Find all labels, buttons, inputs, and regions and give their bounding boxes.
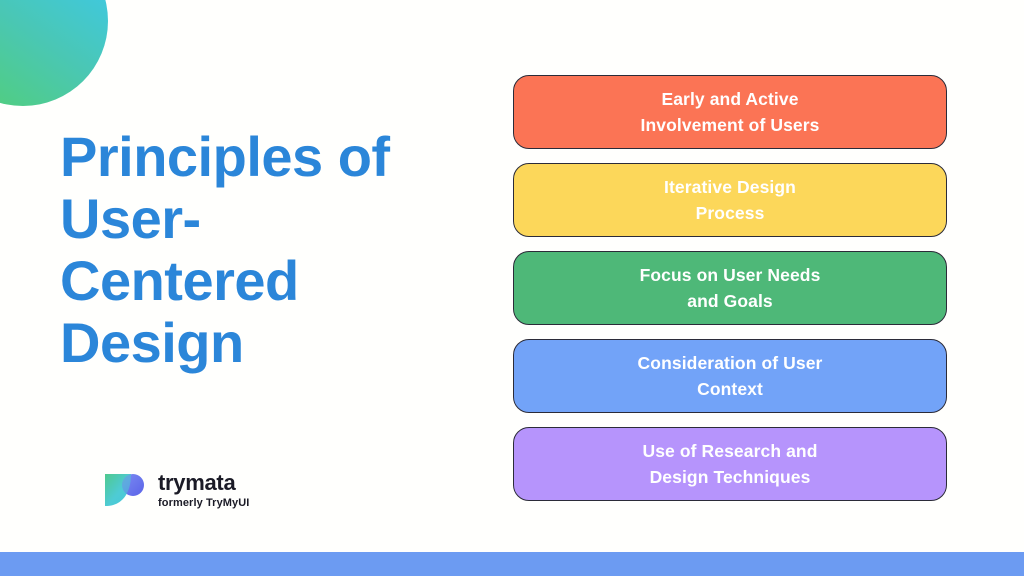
brand-logo-text: trymata formerly TryMyUI <box>158 471 249 509</box>
principles-list: Early and Active Involvement of Users It… <box>513 75 947 501</box>
footer-bar <box>0 552 1024 576</box>
principle-box-early-active-involvement[interactable]: Early and Active Involvement of Users <box>513 75 947 149</box>
trymata-leaf-icon <box>101 470 147 510</box>
principle-box-consideration-of-user-context[interactable]: Consideration of User Context <box>513 339 947 413</box>
principle-label: Consideration of User Context <box>638 350 823 403</box>
principle-label: Focus on User Needs and Goals <box>640 262 821 315</box>
principle-box-focus-on-user-needs[interactable]: Focus on User Needs and Goals <box>513 251 947 325</box>
brand-name: trymata <box>158 471 249 494</box>
principle-label: Iterative Design Process <box>664 174 796 227</box>
brand-logo: trymata formerly TryMyUI <box>101 470 249 510</box>
principle-box-use-of-research-design-techniques[interactable]: Use of Research and Design Techniques <box>513 427 947 501</box>
slide-canvas: Principles of User-Centered Design <box>0 0 1024 576</box>
brand-tagline: formerly TryMyUI <box>158 497 249 509</box>
principle-label: Early and Active Involvement of Users <box>641 86 820 139</box>
page-title: Principles of User-Centered Design <box>60 126 430 375</box>
principle-label: Use of Research and Design Techniques <box>642 438 817 491</box>
left-column: Principles of User-Centered Design <box>0 0 470 552</box>
principle-box-iterative-design-process[interactable]: Iterative Design Process <box>513 163 947 237</box>
